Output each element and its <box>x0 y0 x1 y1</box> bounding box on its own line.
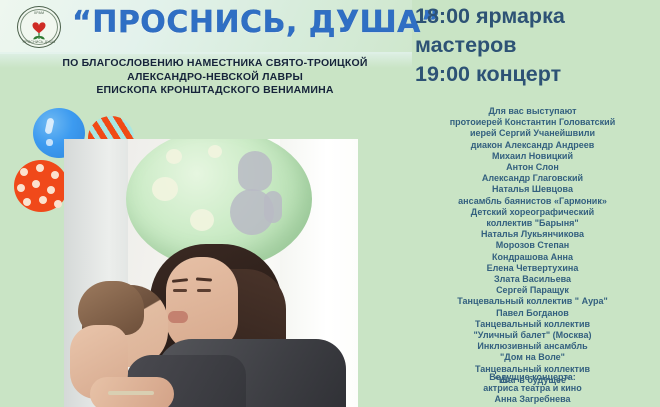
mother-face <box>166 257 238 351</box>
hosts-line: Анна Загребнева <box>410 394 655 405</box>
event-schedule: 18:00 ярмарка мастеров 19:00 концерт <box>415 2 647 89</box>
polka-dot-balloon-decor <box>14 160 68 212</box>
list-item: Наталья Шевцова <box>410 184 655 195</box>
performers-heading: Для вас выступают <box>410 106 655 117</box>
hosts-heading: Ведущие концерта: <box>410 372 655 383</box>
list-item: Танцевальный коллектив <box>410 319 655 330</box>
list-item: Елена Четвертухина <box>410 263 655 274</box>
balloon-highlight <box>44 117 54 134</box>
schedule-line-1: 18:00 ярмарка <box>415 2 647 31</box>
list-item: "Дом на Воле" <box>410 352 655 363</box>
organization-logo: ХРАМ ПРОСНИСЬ ДУША <box>17 6 61 48</box>
list-item: Павел Богданов <box>410 308 655 319</box>
list-item: Михаил Новицкий <box>410 151 655 162</box>
list-item: Сергей Паращук <box>410 285 655 296</box>
list-item: диакон Александр Андреев <box>410 140 655 151</box>
list-item: Инклюзивный ансамбль <box>410 341 655 352</box>
list-item: Танцевальный коллектив " Аура" <box>410 296 655 307</box>
performers-list: Для вас выступают протоиерей Константин … <box>410 106 655 386</box>
poster-title: “ПРОСНИСЬ, ДУША” <box>72 3 372 43</box>
mother-lips <box>168 311 188 323</box>
list-item: Морозов Степан <box>410 240 655 251</box>
hosts-line: актриса театра и кино <box>410 383 655 394</box>
list-item: протоиерей Константин Головатский <box>410 117 655 128</box>
blessing-line-1: ПО БЛАГОСЛОВЕНИЮ НАМЕСТНИКА СВЯТО-ТРОИЦК… <box>40 57 390 71</box>
list-item: иерей Сергий Учанейшвили <box>410 128 655 139</box>
bracelet <box>108 391 154 395</box>
list-item: Кондрашова Анна <box>410 252 655 263</box>
blessing-text: ПО БЛАГОСЛОВЕНИЮ НАМЕСТНИКА СВЯТО-ТРОИЦК… <box>40 57 390 98</box>
poster-canvas: ХРАМ ПРОСНИСЬ ДУША “ПРОСНИСЬ, ДУША” ПО Б… <box>0 0 660 407</box>
event-photo <box>64 139 358 407</box>
list-item: ансамбль баянистов «Гармоник» <box>410 196 655 207</box>
logo-caption-top: ХРАМ <box>17 11 61 15</box>
logo-caption: ХРАМ ПРОСНИСЬ ДУША <box>17 6 61 48</box>
schedule-line-2: мастеров <box>415 31 647 60</box>
schedule-line-3: 19:00 концерт <box>415 60 647 89</box>
list-item: "Уличный балет" (Москва) <box>410 330 655 341</box>
blessing-line-3: ЕПИСКОПА КРОНШТАДСКОГО ВЕНИАМИНА <box>40 84 390 98</box>
balloon-highlight-small <box>46 139 53 146</box>
logo-caption-bottom: ПРОСНИСЬ ДУША <box>17 40 61 44</box>
list-item: Александр Глаговский <box>410 173 655 184</box>
list-item: Злата Васильева <box>410 274 655 285</box>
list-item: Наталья Лукьянчикова <box>410 229 655 240</box>
hosts-block: Ведущие концерта: актриса театра и кино … <box>410 372 655 407</box>
list-item: Антон Слон <box>410 162 655 173</box>
list-item: коллектив "Барыня" <box>410 218 655 229</box>
list-item: Детский хореографический <box>410 207 655 218</box>
blessing-line-2: АЛЕКСАНДРО-НЕВСКОЙ ЛАВРЫ <box>40 71 390 85</box>
